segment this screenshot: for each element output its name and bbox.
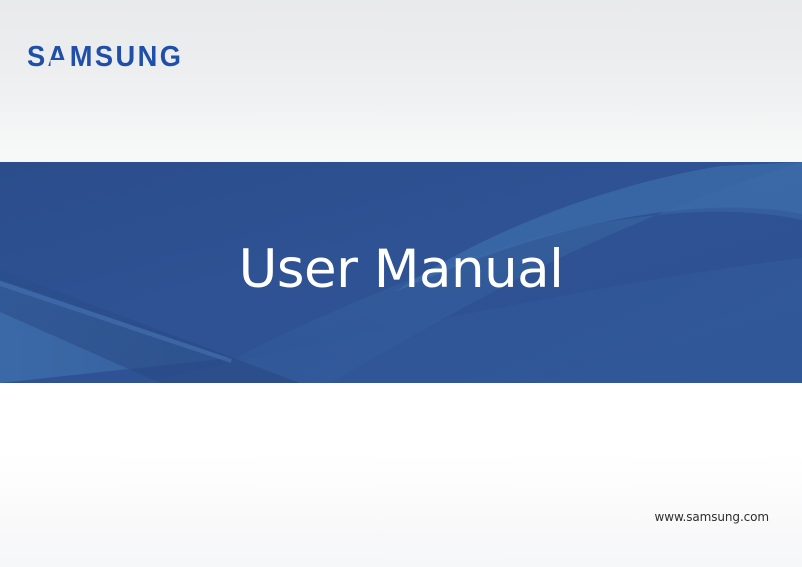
page-footer: www.samsung.com <box>0 383 802 567</box>
website-url: www.samsung.com <box>655 510 769 524</box>
hero-banner: User Manual <box>0 162 802 383</box>
manual-cover-page: SAMSUNG <box>0 0 802 567</box>
samsung-logo: SAMSUNG <box>27 43 183 72</box>
page-header: SAMSUNG <box>0 0 802 162</box>
page-title: User Manual <box>0 162 802 383</box>
